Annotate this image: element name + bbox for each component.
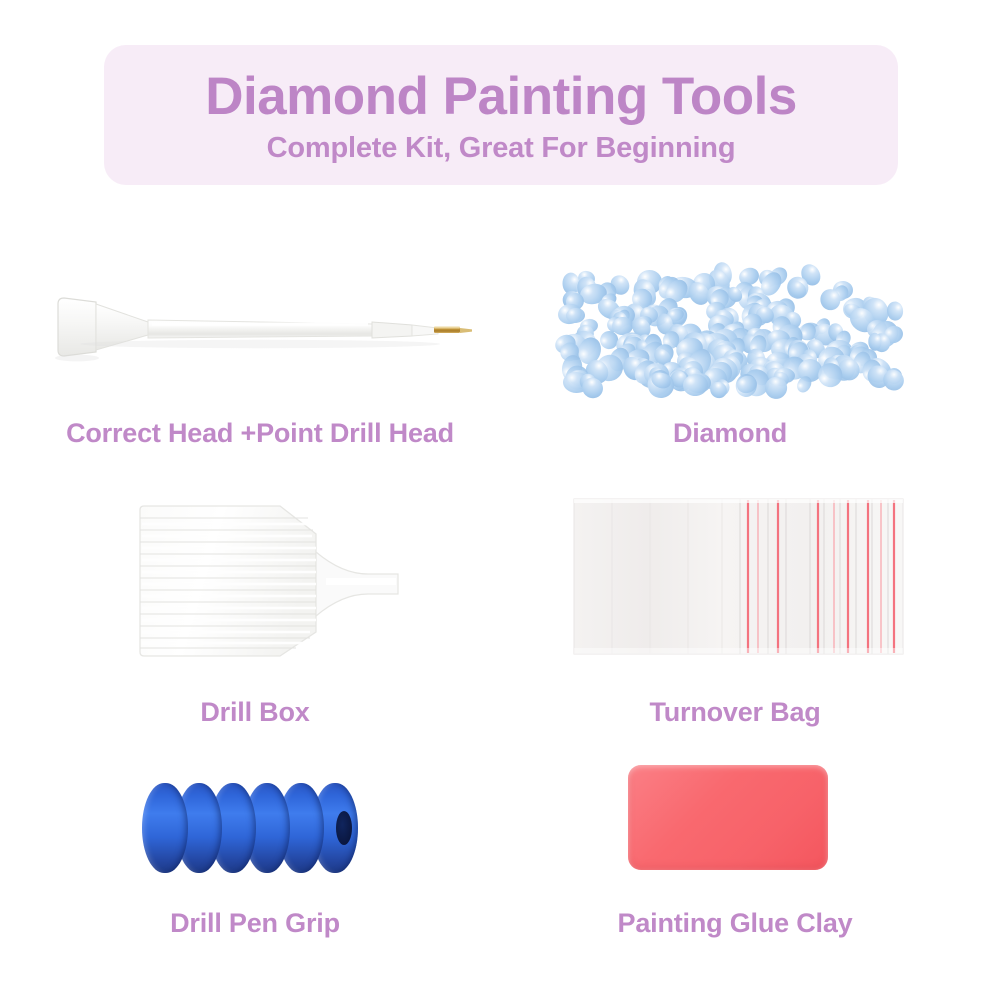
drill-pen-icon [20,240,500,410]
grip-bore-hole [336,811,352,845]
diamond-drill [887,301,904,321]
foam-grip-icon [140,783,366,873]
page-title: Diamond Painting Tools [205,69,797,125]
product-label-painting-glue-clay: Painting Glue Clay [560,908,910,939]
product-image-drill-box [130,490,415,670]
product-label-turnover-bag: Turnover Bag [560,697,910,728]
zip-bag-icon [572,495,905,658]
product-label-drill-box: Drill Box [110,697,400,728]
product-image-turnover-bag [572,495,905,658]
glue-clay-block [628,765,828,870]
product-label-drill-pen-grip: Drill Pen Grip [110,908,400,939]
glue-clay-icon [628,765,828,870]
product-image-correct-head-point-drill-head [20,240,500,410]
product-image-diamond [555,240,905,400]
drill-pen-svg [20,240,500,410]
page-subtitle: Complete Kit, Great For Beginning [267,132,736,165]
product-label-correct-head-point-drill-head: Correct Head +Point Drill Head [20,418,500,449]
drill-tray-icon [130,490,415,670]
drill-tray-svg [130,490,415,670]
product-image-drill-pen-grip [140,783,366,873]
product-label-diamond: Diamond [545,418,915,449]
grip-bead [142,783,188,873]
header-banner: Diamond Painting Tools Complete Kit, Gre… [104,45,898,185]
diamond-drills-icon [555,240,905,400]
product-image-painting-glue-clay [628,765,828,870]
zip-bag-svg [572,495,905,658]
